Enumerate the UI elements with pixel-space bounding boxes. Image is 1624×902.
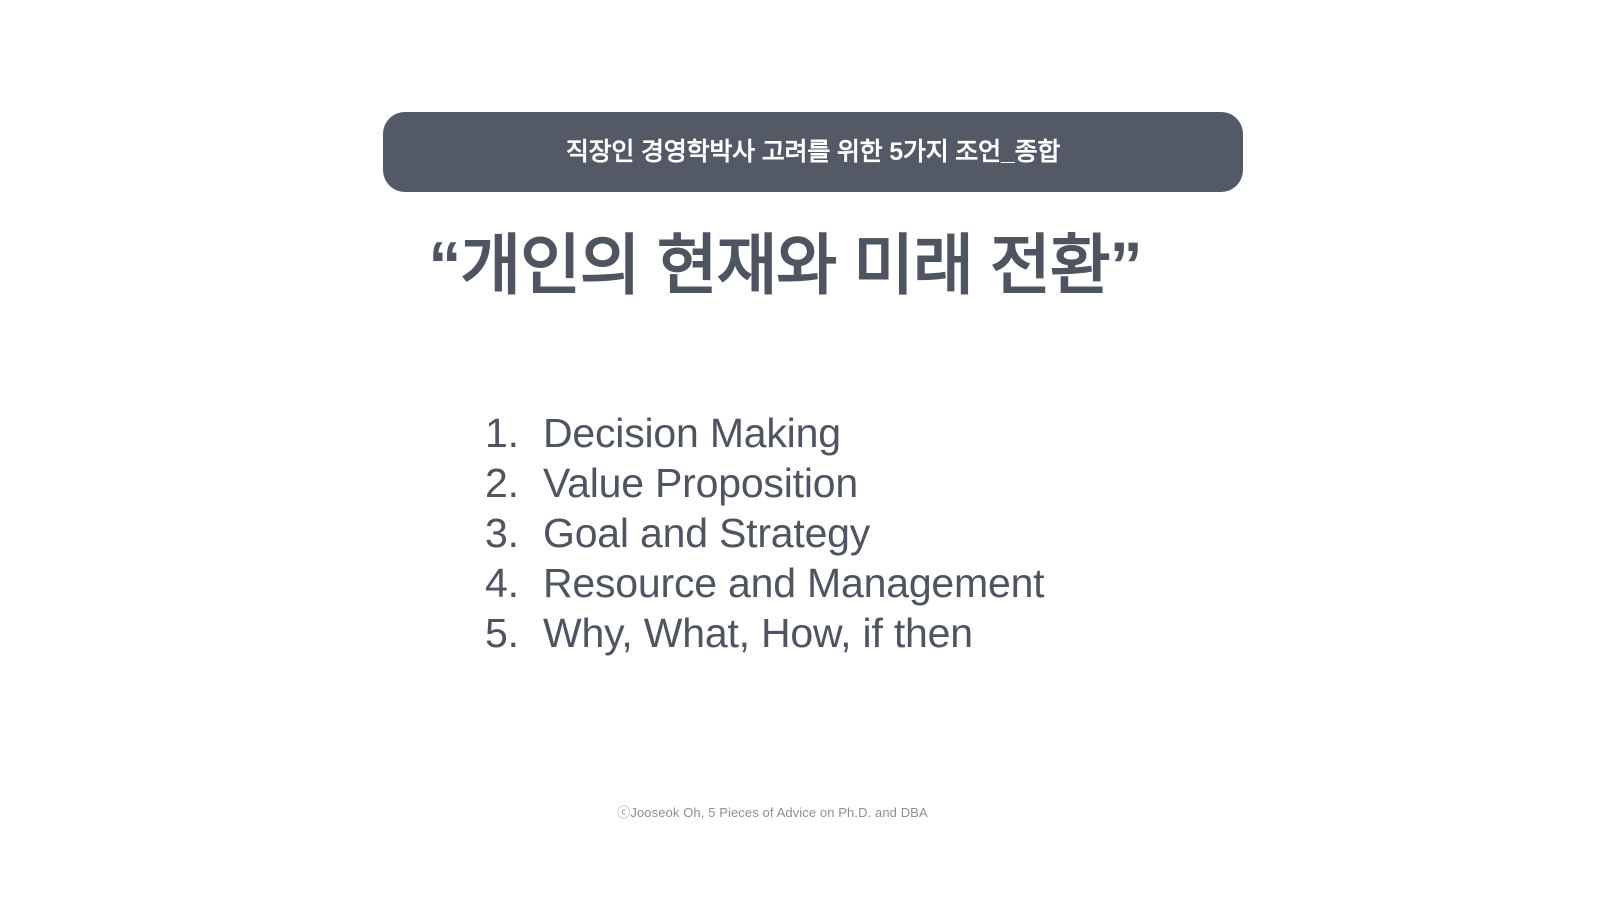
list-item-label: Why, What, How, if then (543, 608, 973, 658)
slide-canvas: 직장인 경영학박사 고려를 위한 5가지 조언_종합 “개인의 현재와 미래 전… (0, 0, 1624, 902)
list-item: 2. Value Proposition (485, 458, 1044, 508)
list-item-number: 5. (485, 608, 543, 658)
header-banner: 직장인 경영학박사 고려를 위한 5가지 조언_종합 (383, 112, 1243, 192)
list-item: 1. Decision Making (485, 408, 1044, 458)
list-item: 4. Resource and Management (485, 558, 1044, 608)
footer-text: Jooseok Oh, 5 Pieces of Advice on Ph.D. … (630, 805, 927, 820)
list-item-label: Value Proposition (543, 458, 858, 508)
copyright-icon: ⓒ (617, 805, 630, 820)
list-item: 3. Goal and Strategy (485, 508, 1044, 558)
page-title: “개인의 현재와 미래 전환” (0, 228, 1570, 304)
slide-footer: ⓒJooseok Oh, 5 Pieces of Advice on Ph.D.… (0, 802, 1545, 821)
list-item-number: 4. (485, 558, 543, 608)
list-item-label: Goal and Strategy (543, 508, 870, 558)
numbered-points-list: 1. Decision Making 2. Value Proposition … (485, 408, 1044, 658)
list-item-number: 1. (485, 408, 543, 458)
list-item: 5. Why, What, How, if then (485, 608, 1044, 658)
list-item-number: 3. (485, 508, 543, 558)
list-item-label: Decision Making (543, 408, 841, 458)
header-title: 직장인 경영학박사 고려를 위한 5가지 조언_종합 (566, 140, 1060, 165)
list-item-number: 2. (485, 458, 543, 508)
list-item-label: Resource and Management (543, 558, 1044, 608)
